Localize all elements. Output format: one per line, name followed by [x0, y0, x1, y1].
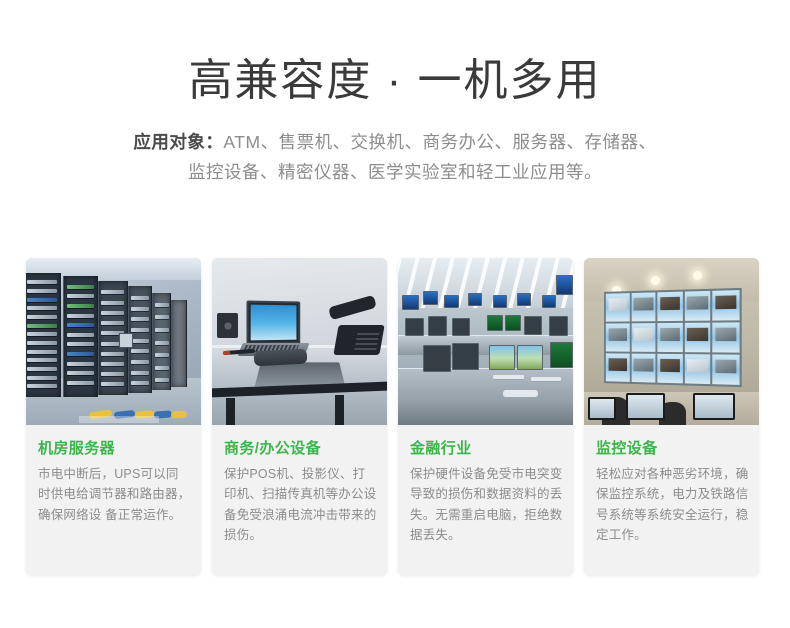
trading-floor-photo	[398, 258, 573, 425]
surveillance-videowall-photo	[584, 258, 759, 425]
feature-card-list: 机房服务器 市电中断后，UPS可以同时供电给调节器和路由器，确保网络设 备正常运…	[26, 258, 765, 575]
card-description: 市电中断后，UPS可以同时供电给调节器和路由器，确保网络设 备正常运作。	[38, 464, 191, 525]
subtitle-label: 应用对象：	[133, 132, 223, 152]
subtitle-block: 应用对象：ATM、售票机、交换机、商务办公、服务器、存储器、 监控设备、精密仪器…	[0, 127, 790, 188]
card-description: 轻松应对各种恶劣环境，确保监控系统，电力及铁路信号系统等系统安全运行，稳定工作。	[596, 464, 749, 545]
subtitle-line-2: 监控设备、精密仪器、医学实验室和轻工业应用等。	[0, 157, 790, 188]
card-description: 保护POS机、投影仪、打印机、扫描传真机等办公设备免受浪涌电流冲击带来的损伤。	[224, 464, 377, 545]
card-title: 监控设备	[596, 437, 749, 458]
feature-card[interactable]: 监控设备 轻松应对各种恶劣环境，确保监控系统，电力及铁路信号系统等系统安全运行，…	[584, 258, 759, 575]
server-room-photo	[26, 258, 201, 425]
feature-card[interactable]: 金融行业 保护硬件设备免受市电突变导致的损伤和数据资料的丢失。无需重启电脑，拒绝…	[398, 258, 573, 575]
page-title: 高兼容度 · 一机多用	[0, 56, 790, 107]
subtitle-line-1: 应用对象：ATM、售票机、交换机、商务办公、服务器、存储器、	[0, 127, 790, 158]
promo-page: 高兼容度 · 一机多用 应用对象：ATM、售票机、交换机、商务办公、服务器、存储…	[0, 0, 790, 628]
subtitle-text-1: ATM、售票机、交换机、商务办公、服务器、存储器、	[223, 132, 656, 152]
card-body: 监控设备 轻松应对各种恶劣环境，确保监控系统，电力及铁路信号系统等系统安全运行，…	[584, 425, 759, 555]
card-title: 商务/办公设备	[224, 437, 377, 458]
feature-card[interactable]: 机房服务器 市电中断后，UPS可以同时供电给调节器和路由器，确保网络设 备正常运…	[26, 258, 201, 575]
page-header: 高兼容度 · 一机多用 应用对象：ATM、售票机、交换机、商务办公、服务器、存储…	[0, 0, 790, 188]
video-wall-grid	[604, 288, 742, 387]
card-body: 商务/办公设备 保护POS机、投影仪、打印机、扫描传真机等办公设备免受浪涌电流冲…	[212, 425, 387, 555]
office-desk-photo	[212, 258, 387, 425]
card-title: 机房服务器	[38, 437, 191, 458]
feature-card[interactable]: 商务/办公设备 保护POS机、投影仪、打印机、扫描传真机等办公设备免受浪涌电流冲…	[212, 258, 387, 575]
card-description: 保护硬件设备免受市电突变导致的损伤和数据资料的丢失。无需重启电脑，拒绝数据丢失。	[410, 464, 563, 545]
subtitle-text-2: 监控设备、精密仪器、医学实验室和轻工业应用等。	[188, 162, 602, 182]
card-body: 机房服务器 市电中断后，UPS可以同时供电给调节器和路由器，确保网络设 备正常运…	[26, 425, 201, 535]
card-title: 金融行业	[410, 437, 563, 458]
card-body: 金融行业 保护硬件设备免受市电突变导致的损伤和数据资料的丢失。无需重启电脑，拒绝…	[398, 425, 573, 555]
